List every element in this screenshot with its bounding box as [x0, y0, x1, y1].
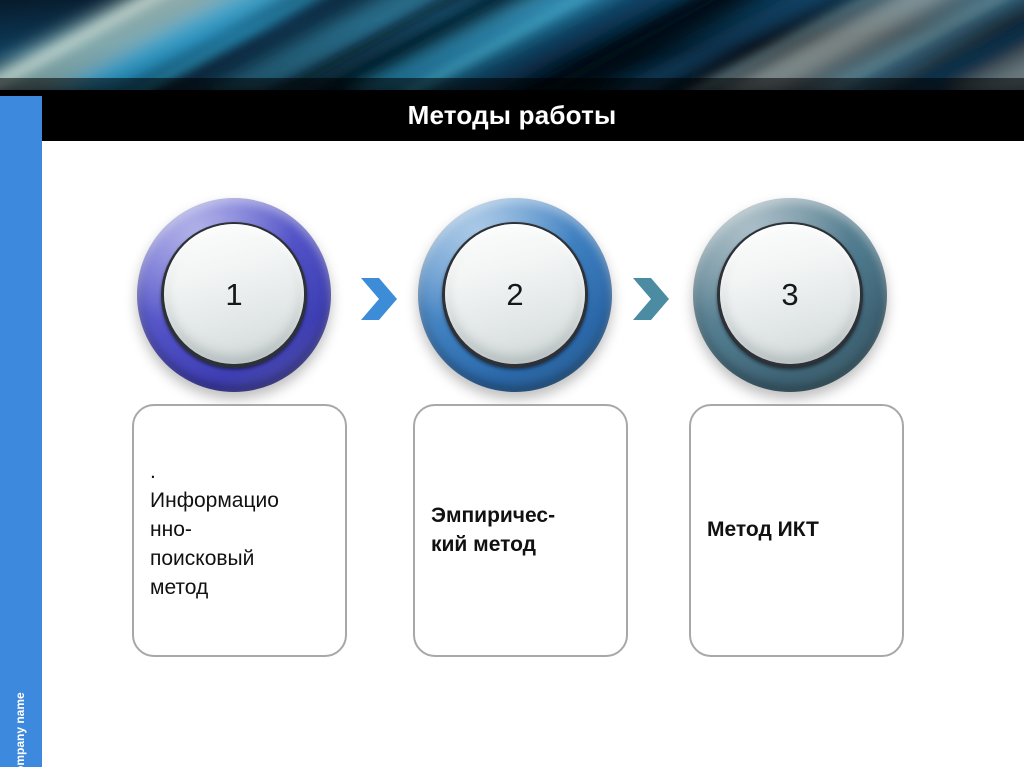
step-caption-text-3: Метод ИКТ — [707, 516, 819, 545]
left-accent-bar: company name — [0, 96, 42, 767]
company-name-label: company name — [0, 656, 41, 767]
step-node-3[interactable]: 3 — [693, 198, 887, 392]
step-caption-box-3[interactable]: Метод ИКТ — [689, 404, 904, 657]
step-number-2: 2 — [506, 279, 523, 310]
step-circle-row: 1 2 — [42, 141, 1024, 396]
abstract-blue-motion-blur-graphic — [0, 0, 1024, 90]
page-title: Методы работы — [0, 90, 1024, 141]
chevron-right-glyph-1 — [359, 276, 399, 322]
step-number-1: 1 — [225, 279, 242, 310]
presentation-slide: Методы работы company name 1 — [0, 0, 1024, 767]
step-disc-2: 2 — [445, 224, 585, 364]
step-caption-text-1: . Информацио нно- поисковый метод — [150, 458, 279, 603]
step-caption-box-1[interactable]: . Информацио нно- поисковый метод — [132, 404, 347, 657]
step-node-1[interactable]: 1 — [137, 198, 331, 392]
step-number-3: 3 — [781, 279, 798, 310]
chevron-right-icon-2 — [631, 276, 671, 322]
step-disc-3: 3 — [720, 224, 860, 364]
step-caption-box-2[interactable]: Эмпиричес- кий метод — [413, 404, 628, 657]
step-caption-text-2: Эмпиричес- кий метод — [431, 502, 555, 560]
chevron-right-glyph-2 — [631, 276, 671, 322]
step-disc-1: 1 — [164, 224, 304, 364]
chevron-right-icon-1 — [359, 276, 399, 322]
step-node-2[interactable]: 2 — [418, 198, 612, 392]
header-banner-image — [0, 0, 1024, 90]
slide-content: 1 2 — [42, 141, 1024, 767]
